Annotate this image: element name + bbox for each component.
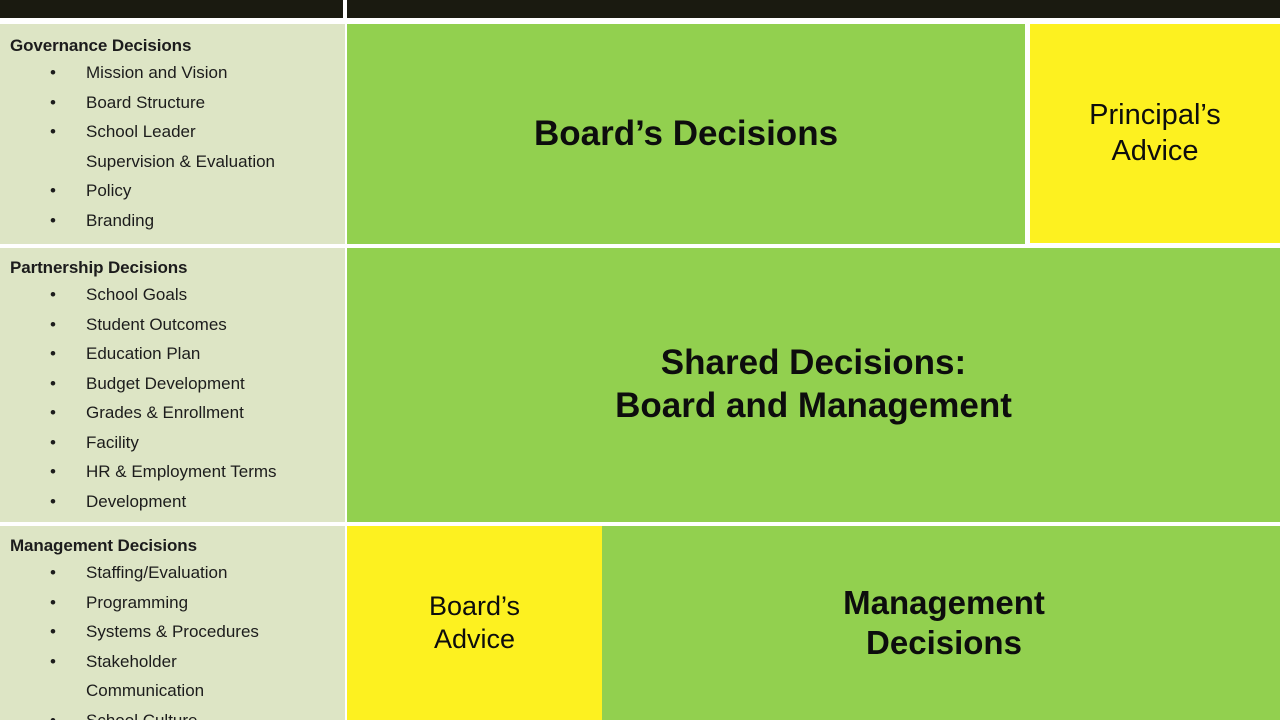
bullet-icon: • bbox=[50, 117, 56, 147]
list-item-label: Programming bbox=[86, 593, 188, 612]
list-item: • Branding bbox=[10, 206, 345, 236]
list-item: • HR & Employment Terms bbox=[10, 457, 345, 487]
bullet-icon: • bbox=[50, 310, 56, 340]
board-decisions-label: Board’s Decisions bbox=[534, 113, 838, 156]
management-decisions-heading: Management Decisions bbox=[0, 526, 345, 558]
bullet-icon: • bbox=[50, 428, 56, 458]
list-item-continuation: Communication bbox=[10, 676, 345, 706]
principals-advice-label: Principal’s Advice bbox=[1089, 98, 1221, 169]
governance-decisions-list: • Mission and Vision • Board Structure •… bbox=[0, 58, 345, 235]
list-item-label: Mission and Vision bbox=[86, 63, 227, 82]
partnership-decisions-panel: Partnership Decisions • School Goals • S… bbox=[0, 248, 345, 522]
bullet-icon: • bbox=[50, 58, 56, 88]
bullet-icon: • bbox=[50, 457, 56, 487]
bullet-icon: • bbox=[50, 206, 56, 236]
list-item: • School Culture bbox=[10, 706, 345, 720]
bullet-icon: • bbox=[50, 647, 56, 677]
list-item: • Systems & Procedures bbox=[10, 617, 345, 647]
list-item-label: Grades & Enrollment bbox=[86, 403, 244, 422]
list-item: • School Leader bbox=[10, 117, 345, 147]
shared-decisions-line1: Shared Decisions: bbox=[661, 343, 966, 382]
list-item: • Grades & Enrollment bbox=[10, 398, 345, 428]
top-band-left bbox=[0, 0, 343, 18]
list-item: • Stakeholder bbox=[10, 647, 345, 677]
bullet-icon: • bbox=[50, 558, 56, 588]
bullet-icon: • bbox=[50, 88, 56, 118]
bullet-icon: • bbox=[50, 588, 56, 618]
management-decisions-block: Management Decisions bbox=[608, 526, 1280, 720]
list-item: • Development bbox=[10, 487, 345, 517]
list-item-label: Stakeholder bbox=[86, 652, 177, 671]
bullet-icon: • bbox=[50, 706, 56, 720]
list-item: • Staffing/Evaluation bbox=[10, 558, 345, 588]
decision-matrix-slide: Governance Decisions • Mission and Visio… bbox=[0, 0, 1280, 720]
list-item-label: Budget Development bbox=[86, 374, 245, 393]
list-item: • School Goals bbox=[10, 280, 345, 310]
list-item-label: Facility bbox=[86, 433, 139, 452]
list-item-label: School Goals bbox=[86, 285, 187, 304]
top-band-right bbox=[347, 0, 1280, 18]
list-item-label: School Culture bbox=[86, 711, 198, 720]
list-item: • Student Outcomes bbox=[10, 310, 345, 340]
shared-decisions-block: Shared Decisions: Board and Management bbox=[347, 248, 1280, 522]
boards-advice-label: Board’s Advice bbox=[429, 590, 520, 656]
list-item: • Policy bbox=[10, 176, 345, 206]
principals-advice-line2: Advice bbox=[1111, 135, 1198, 167]
list-item-label: School Leader bbox=[86, 122, 196, 141]
board-decisions-block: Board’s Decisions bbox=[347, 24, 1025, 244]
list-item: • Programming bbox=[10, 588, 345, 618]
governance-decisions-heading: Governance Decisions bbox=[0, 24, 345, 58]
management-decisions-label: Management Decisions bbox=[843, 583, 1045, 664]
list-item-label: Education Plan bbox=[86, 344, 200, 363]
bullet-icon: • bbox=[50, 339, 56, 369]
shared-decisions-line2: Board and Management bbox=[615, 386, 1012, 425]
list-item-label: Supervision & Evaluation bbox=[86, 152, 275, 171]
partnership-decisions-list: • School Goals • Student Outcomes • Educ… bbox=[0, 280, 345, 516]
list-item-continuation: Supervision & Evaluation bbox=[10, 147, 345, 177]
list-item: • Facility bbox=[10, 428, 345, 458]
list-item-label: Development bbox=[86, 492, 186, 511]
management-decisions-panel: Management Decisions • Staffing/Evaluati… bbox=[0, 526, 345, 720]
bullet-icon: • bbox=[50, 369, 56, 399]
partnership-decisions-heading: Partnership Decisions bbox=[0, 248, 345, 280]
list-item: • Budget Development bbox=[10, 369, 345, 399]
principals-advice-block: Principal’s Advice bbox=[1030, 24, 1280, 243]
list-item-label: Policy bbox=[86, 181, 131, 200]
boards-advice-block: Board’s Advice bbox=[347, 526, 602, 720]
list-item-label: Branding bbox=[86, 211, 154, 230]
shared-decisions-label: Shared Decisions: Board and Management bbox=[615, 342, 1012, 427]
list-item-label: Communication bbox=[86, 681, 204, 700]
management-decisions-line1: Management bbox=[843, 584, 1045, 621]
boards-advice-line2: Advice bbox=[434, 624, 515, 654]
bullet-icon: • bbox=[50, 176, 56, 206]
boards-advice-line1: Board’s bbox=[429, 591, 520, 621]
bullet-icon: • bbox=[50, 280, 56, 310]
governance-decisions-panel: Governance Decisions • Mission and Visio… bbox=[0, 24, 345, 244]
management-decisions-list: • Staffing/Evaluation • Programming • Sy… bbox=[0, 558, 345, 720]
principals-advice-line1: Principal’s bbox=[1089, 99, 1221, 131]
management-decisions-line2: Decisions bbox=[866, 624, 1022, 661]
list-item: • Mission and Vision bbox=[10, 58, 345, 88]
list-item-label: Board Structure bbox=[86, 93, 205, 112]
bullet-icon: • bbox=[50, 487, 56, 517]
list-item-label: Staffing/Evaluation bbox=[86, 563, 227, 582]
list-item-label: HR & Employment Terms bbox=[86, 462, 277, 481]
list-item: • Board Structure bbox=[10, 88, 345, 118]
bullet-icon: • bbox=[50, 398, 56, 428]
list-item-label: Systems & Procedures bbox=[86, 622, 259, 641]
list-item: • Education Plan bbox=[10, 339, 345, 369]
bullet-icon: • bbox=[50, 617, 56, 647]
list-item-label: Student Outcomes bbox=[86, 315, 227, 334]
